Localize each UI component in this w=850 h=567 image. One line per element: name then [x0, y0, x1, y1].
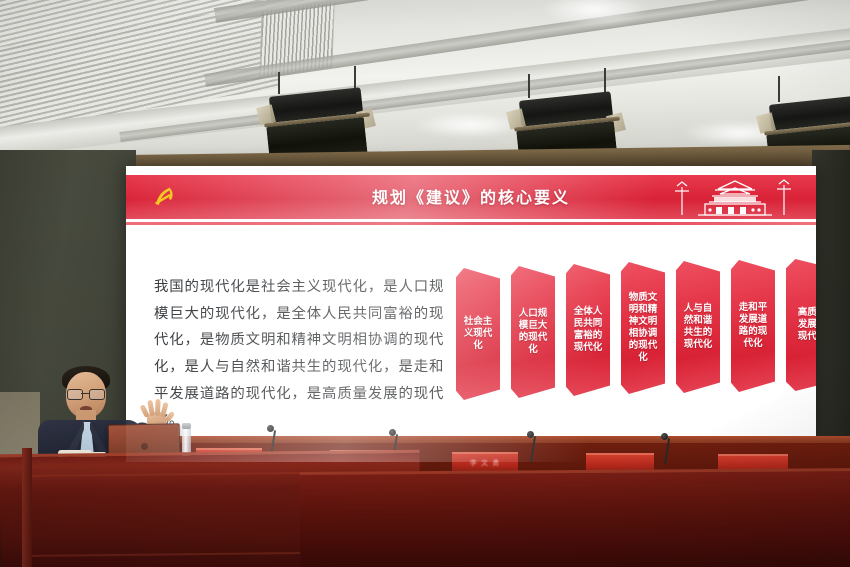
chevron-label: 人与自然和谐共生的现代化: [683, 303, 713, 352]
chevron-arrow-row: 社会主义现代化 人口规模巨大的现代化 全体人民共同富裕的现代化 物质文明和精神文…: [456, 262, 806, 394]
slide-header-underline: [126, 222, 816, 225]
tiananmen-gate-graphic: [660, 177, 810, 219]
chevron-item: 全体人民共同富裕的现代化: [566, 264, 610, 396]
chevron-label: 走和平发展道路的现代化: [738, 302, 768, 351]
chevron-item: 人口规模巨大的现代化: [511, 266, 555, 398]
water-bottle-cap: [182, 423, 191, 429]
eyeglasses-icon: [67, 389, 105, 398]
chevron-label: 社会主义现代化: [463, 316, 493, 352]
conference-table-edge: [175, 436, 850, 443]
chevron-item: 人与自然和谐共生的现代化: [676, 261, 720, 393]
chevron-label: 物质文明和精神文明相协调的现代化: [628, 292, 658, 365]
chevron-label: 高质量发展的现代化: [797, 307, 816, 343]
chevron-label: 全体人民共同富裕的现代化: [573, 306, 603, 355]
chevron-item: 物质文明和精神文明相协调的现代化: [621, 262, 665, 394]
chevron-item: 走和平发展道路的现代化: [731, 260, 775, 392]
audience-foreground: [0, 455, 850, 567]
chevron-item: 高质量发展的现代化: [786, 259, 816, 391]
projection-screen: 规划《建议》的核心要义: [126, 166, 816, 462]
laptop-logo: [141, 443, 148, 450]
chevron-label: 人口规模巨大的现代化: [518, 308, 548, 357]
slide-header-bar: 规划《建议》的核心要义: [126, 175, 816, 219]
chevron-item: 社会主义现代化: [456, 268, 500, 400]
lecture-hall-photo: 规划《建议》的核心要义: [0, 0, 850, 567]
